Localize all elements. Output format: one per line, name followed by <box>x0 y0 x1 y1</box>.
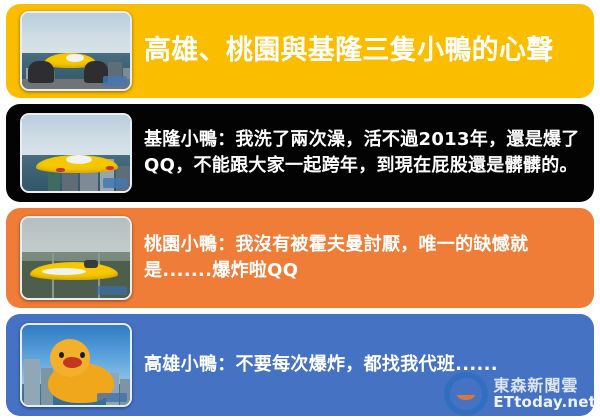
duck-beak-remnant <box>106 166 114 170</box>
panel-keelung: 基隆小鴨：我洗了兩次澡，活不過2013年，還是爆了 QQ，不能跟大家一起跨年，到… <box>6 104 594 202</box>
quote-keelung-line2: QQ，不能跟大家一起跨年，到現在屁股還是髒髒的。 <box>144 153 584 179</box>
panel-title: 高雄、桃園與基隆三隻小鴨的心聲 <box>6 4 594 98</box>
panel-kaohsiung: 高雄小鴨：不要每次爆炸，都找我代班...... <box>6 314 594 416</box>
quote-taoyuan-line1: 桃園小鴨：我沒有被霍夫曼討厭，唯一的缺憾就 <box>144 232 584 258</box>
thumbnail-watermark-badge <box>97 393 127 402</box>
duck-debris <box>84 260 98 268</box>
thumbnail-watermark-badge <box>97 286 127 295</box>
quote-taoyuan: 桃園小鴨：我沒有被霍夫曼討厭，唯一的缺憾就 是.......爆炸啦QQ <box>144 232 594 283</box>
quote-taoyuan-line2: 是.......爆炸啦QQ <box>144 258 584 284</box>
quote-kaohsiung-line1: 高雄小鴨：不要每次爆炸，都找我代班...... <box>144 352 584 378</box>
thumbnail-keelung-duck <box>20 113 132 193</box>
duck-eye-left <box>59 352 64 358</box>
sky-layer <box>22 115 130 155</box>
quote-kaohsiung: 高雄小鴨：不要每次爆炸，都找我代班...... <box>144 352 594 378</box>
sky-layer <box>22 13 130 53</box>
thumbnail-watermark-badge <box>103 76 127 86</box>
skyline-building <box>24 359 40 405</box>
duck-highlight <box>66 155 92 164</box>
thumbnail-kaohsiung-duck <box>20 323 132 407</box>
duck-highlight <box>42 268 86 275</box>
duck-highlight <box>66 54 84 62</box>
poster-title: 高雄、桃園與基隆三隻小鴨的心聲 <box>144 35 594 67</box>
quote-keelung-line1: 基隆小鴨：我洗了兩次澡，活不過2013年，還是爆了 <box>144 127 584 153</box>
poster-canvas: 高雄、桃園與基隆三隻小鴨的心聲 基隆小鴨：我洗了兩次澡，活不過2013年，還是爆… <box>0 0 600 420</box>
panel-taoyuan: 桃園小鴨：我沒有被霍夫曼討厭，唯一的缺憾就 是.......爆炸啦QQ <box>6 208 594 308</box>
quote-keelung: 基隆小鴨：我洗了兩次澡，活不過2013年，還是爆了 QQ，不能跟大家一起跨年，到… <box>144 127 594 178</box>
thumbnail-watermark-badge <box>103 178 127 188</box>
duck-eye-right <box>80 352 85 358</box>
duck-beak-remnant <box>56 168 65 172</box>
bollard-left <box>28 61 54 83</box>
thumbnail-taoyuan-duck <box>20 216 132 300</box>
thumbnail-title-duck <box>20 11 132 91</box>
